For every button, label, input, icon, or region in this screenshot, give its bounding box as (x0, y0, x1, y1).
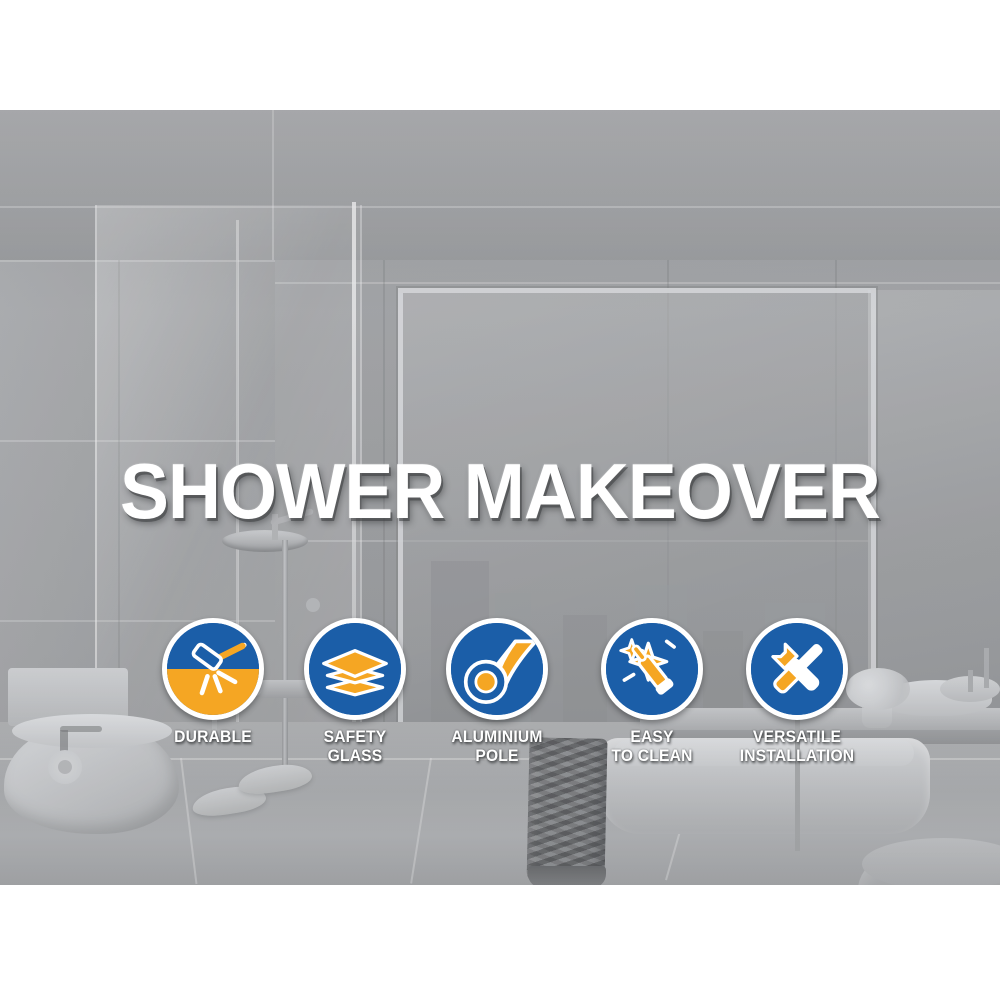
feature-versatile-installation[interactable]: VERSATILE INSTALLATION (722, 618, 872, 765)
feature-label: SAFETY GLASS (286, 727, 424, 765)
page-title: SHOWER MAKEOVER (30, 452, 970, 530)
tools-icon (746, 618, 848, 720)
feature-label: VERSATILE INSTALLATION (728, 727, 866, 765)
feature-label-line: GLASS (328, 746, 383, 765)
feature-label: EASY TO CLEAN (583, 727, 721, 765)
feature-easy-to-clean[interactable]: EASY TO CLEAN (577, 618, 727, 765)
feature-label: ALUMINIUM POLE (428, 727, 566, 765)
feature-badge-row: DURABLE SAFETY GLASS (0, 618, 1000, 788)
feature-label-line: VERSATILE (753, 727, 841, 746)
feature-durable[interactable]: DURABLE (138, 618, 288, 746)
glass-layers-icon (304, 618, 406, 720)
squeegee-sparkle-icon (601, 618, 703, 720)
feature-aluminium-pole[interactable]: ALUMINIUM POLE (422, 618, 572, 765)
feature-safety-glass[interactable]: SAFETY GLASS (280, 618, 430, 765)
feature-label: DURABLE (144, 727, 282, 746)
feature-label-line: SAFETY (324, 727, 387, 746)
hammer-icon (162, 618, 264, 720)
feature-label-line: ALUMINIUM (451, 727, 542, 746)
feature-label-line: POLE (475, 746, 518, 765)
feature-label-line: TO CLEAN (611, 746, 692, 765)
feature-label-line: INSTALLATION (740, 746, 855, 765)
banner-canvas: SHOWER MAKEOVER (0, 0, 1000, 1000)
feature-label-line: DURABLE (174, 727, 252, 746)
feature-label-line: EASY (630, 727, 673, 746)
pole-roll-icon (446, 618, 548, 720)
